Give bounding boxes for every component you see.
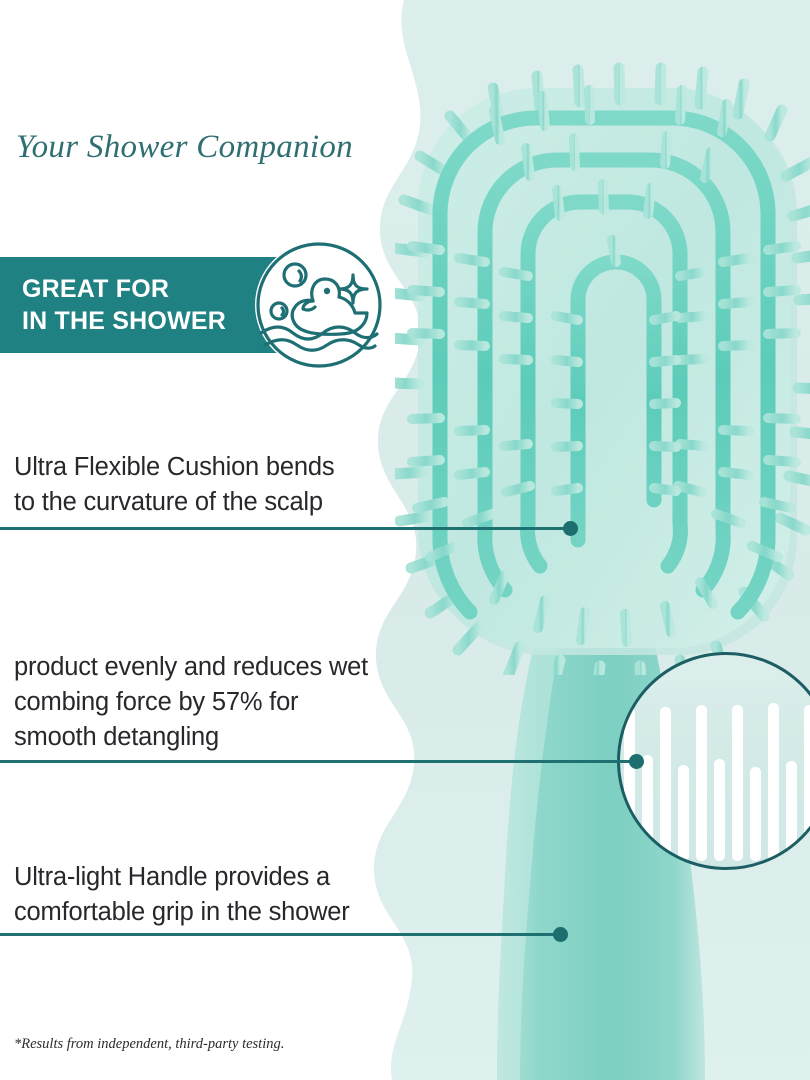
feature-rule xyxy=(0,933,562,936)
feature-text-line: comfortable grip in the shower xyxy=(14,895,434,930)
feature-rule-dot xyxy=(553,927,568,942)
magnifier-bristle xyxy=(678,765,689,861)
magnifier-bristle xyxy=(714,759,725,861)
feature-rule xyxy=(0,760,643,763)
feature-text-line: to the curvature of the scalp xyxy=(14,485,434,520)
badge-label-line2: IN THE SHOWER xyxy=(22,305,282,337)
badge-label: GREAT FOR IN THE SHOWER xyxy=(22,273,282,337)
page-title: Your Shower Companion xyxy=(16,129,396,166)
feature-ultra-flexible-cushion: Ultra Flexible Cushion bends to the curv… xyxy=(0,440,810,530)
feature-rule xyxy=(0,527,570,530)
feature-text: product evenly and reduces wet combing f… xyxy=(14,650,434,755)
feature-ultra-light-handle: Ultra-light Handle provides a comfortabl… xyxy=(0,850,810,940)
feature-text-line: product evenly and reduces wet xyxy=(14,650,434,685)
feature-text-line: smooth detangling xyxy=(14,720,434,755)
feature-text-line: Ultra Flexible Cushion bends xyxy=(14,450,434,485)
magnifier-bristle xyxy=(642,755,653,859)
rubber-duck-icon xyxy=(255,241,383,369)
feature-text: Ultra-light Handle provides a comfortabl… xyxy=(14,860,434,930)
badge-label-line1: GREAT FOR xyxy=(22,273,282,305)
feature-rule-dot xyxy=(629,754,644,769)
magnifier-bristle xyxy=(786,761,797,861)
feature-text-line: Ultra-light Handle provides a xyxy=(14,860,434,895)
feature-rule-dot xyxy=(563,521,578,536)
shower-badge: GREAT FOR IN THE SHOWER xyxy=(0,257,386,353)
feature-text: Ultra Flexible Cushion bends to the curv… xyxy=(14,450,434,520)
footnote: *Results from independent, third-party t… xyxy=(14,1036,284,1053)
feature-even-product-distribution: product evenly and reduces wet combing f… xyxy=(0,645,810,765)
magnifier-bristle xyxy=(750,767,761,861)
infographic-canvas: Your Shower Companion GREAT FOR IN THE S… xyxy=(0,0,810,1080)
feature-text-line: combing force by 57% for xyxy=(14,685,434,720)
